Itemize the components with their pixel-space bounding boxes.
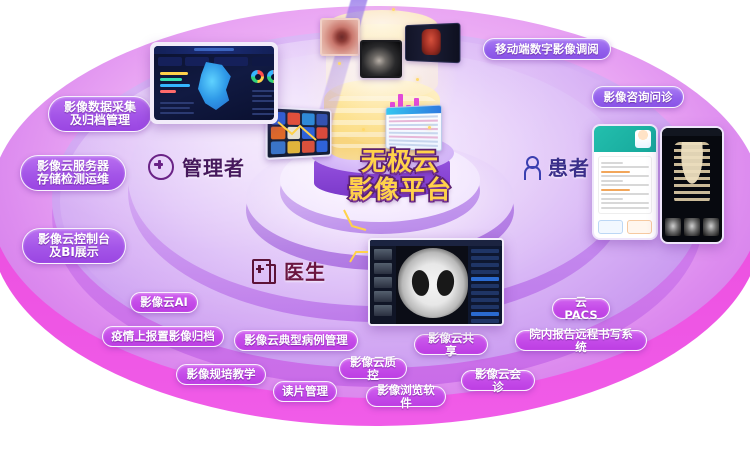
infographic-canvas: 无极云 影像平台 管理者 患者 医生 影像数据采集 及归档管理 影像云服务器 存… <box>0 0 750 450</box>
connector-lines <box>0 0 750 450</box>
